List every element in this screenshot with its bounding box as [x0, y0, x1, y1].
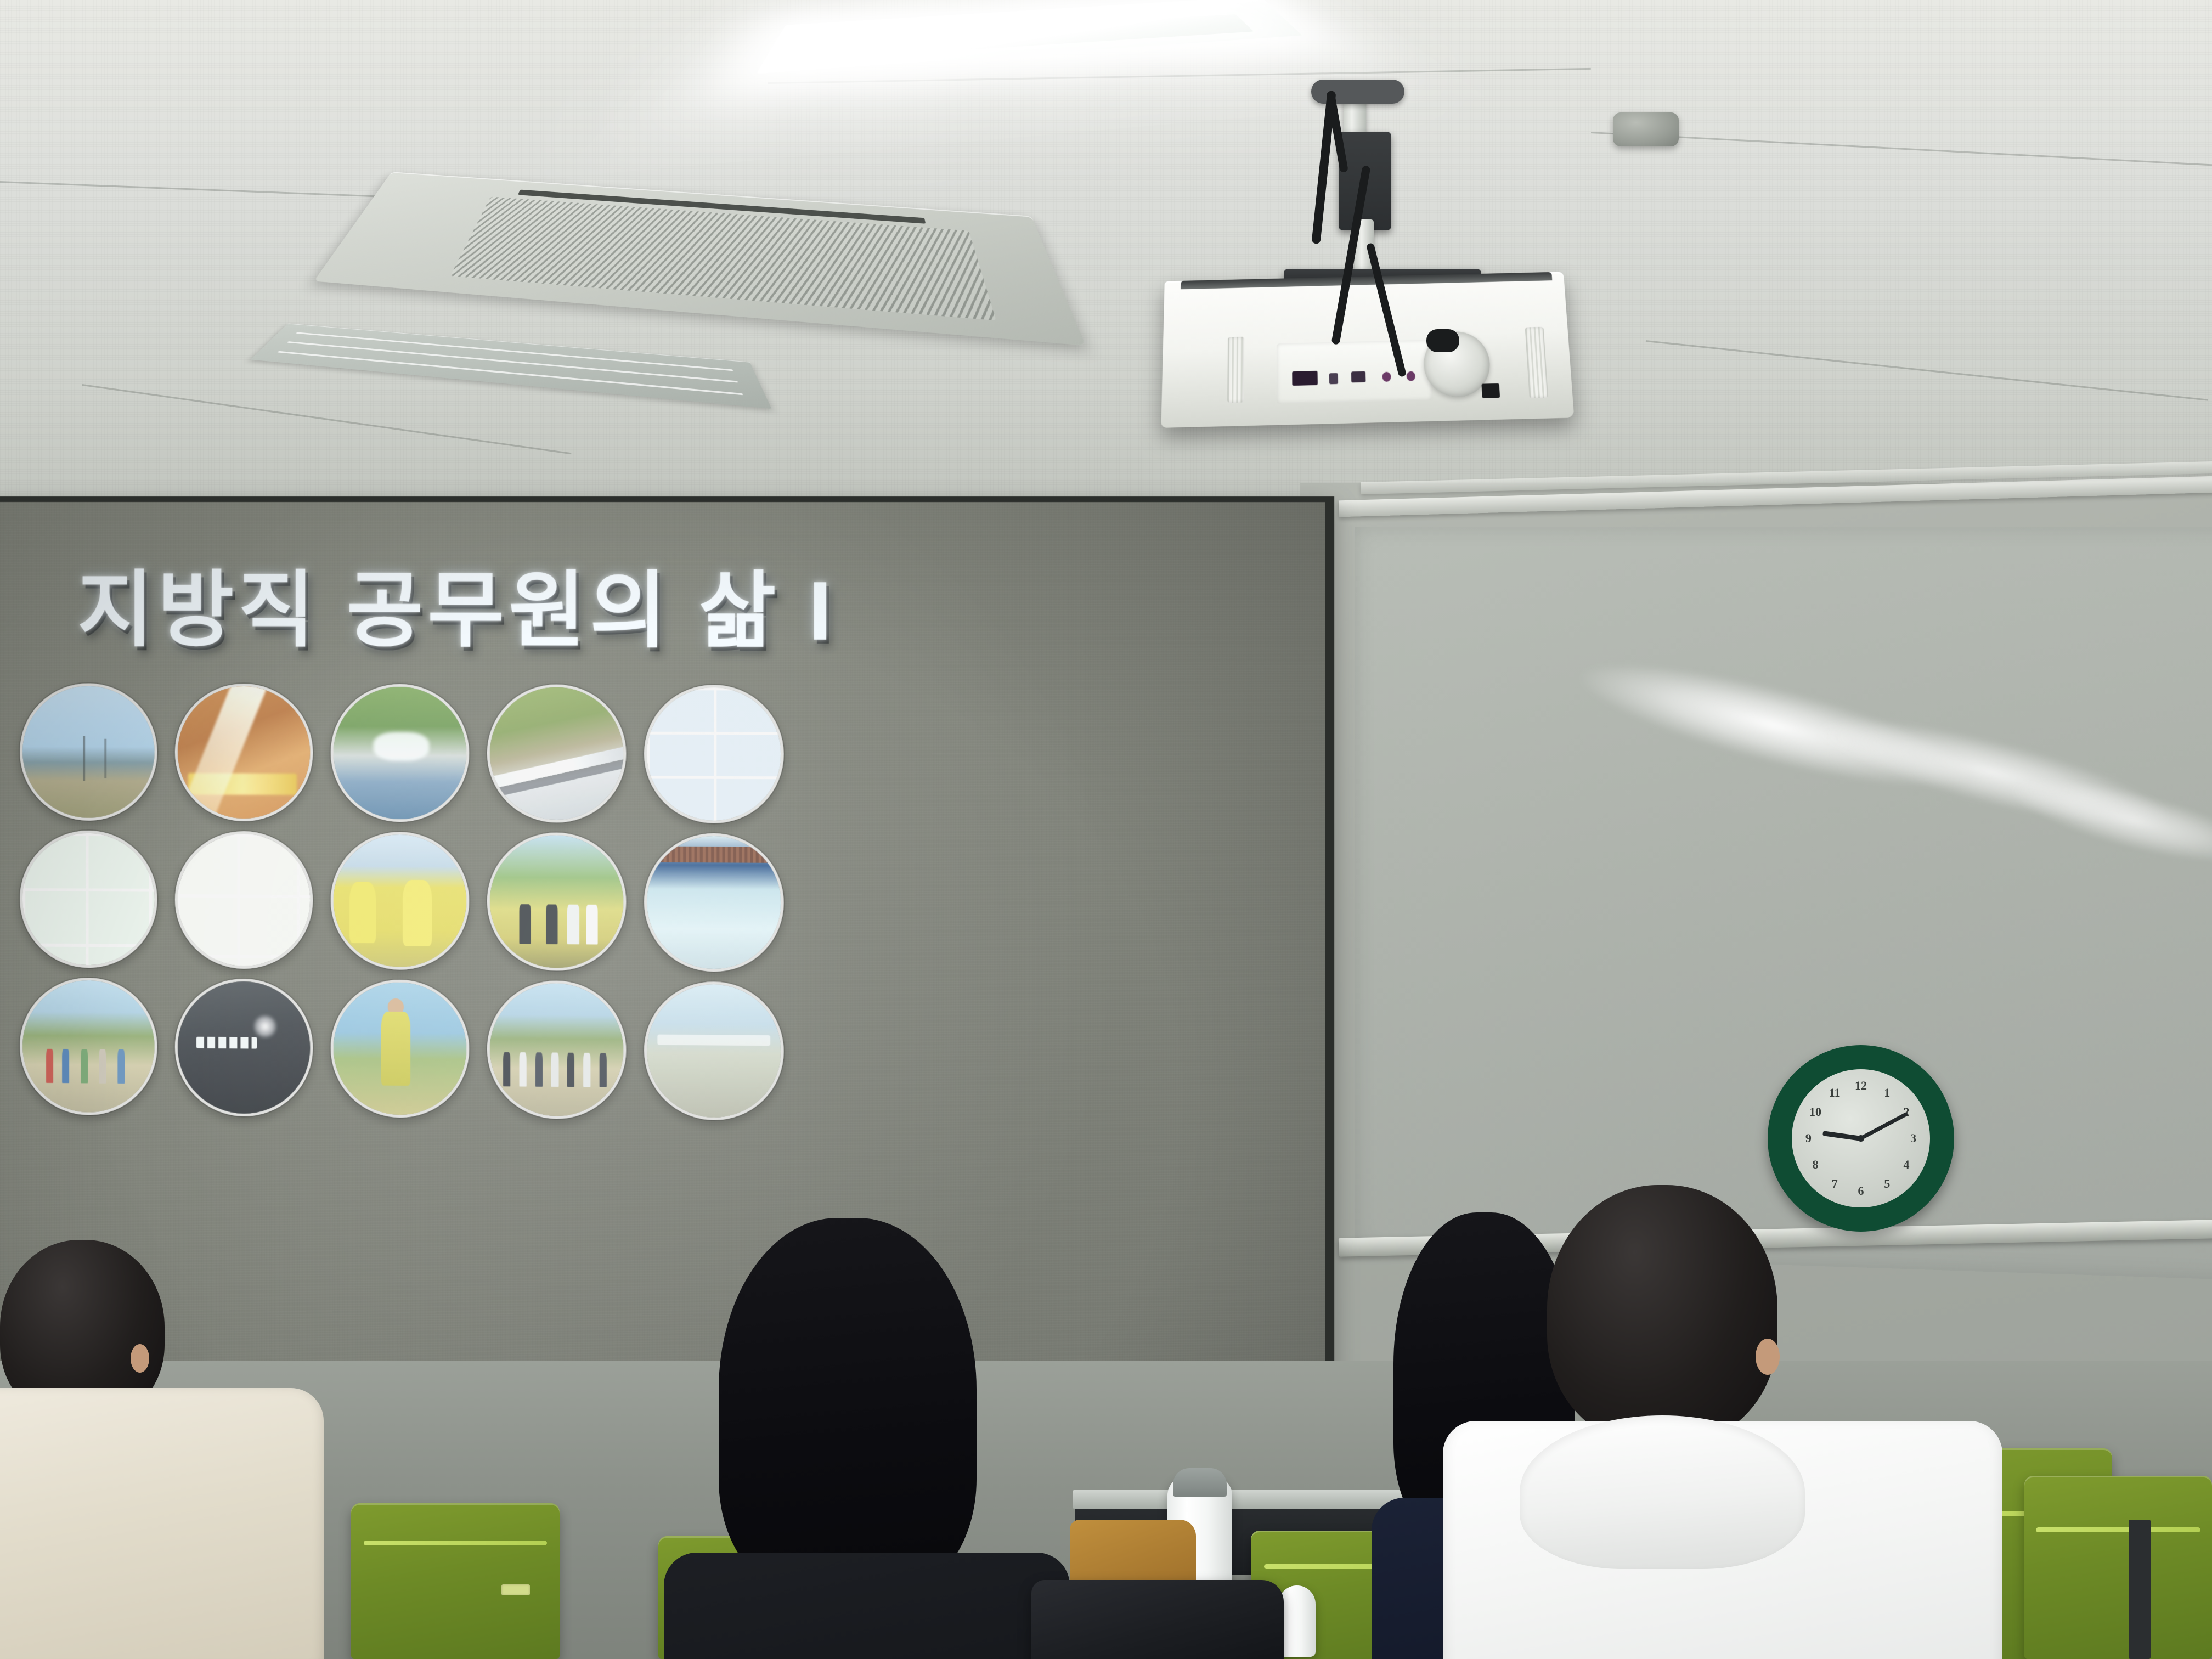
- clock-numeral: 8: [1812, 1158, 1818, 1172]
- backpack[interactable]: [1031, 1580, 1284, 1659]
- ear: [1756, 1339, 1780, 1375]
- hood: [1520, 1415, 1805, 1569]
- water-bottle-small[interactable]: [1278, 1585, 1316, 1657]
- clock-minute-hand: [1860, 1112, 1909, 1140]
- projector-body: [1161, 272, 1574, 428]
- projector-cable-connector: [1426, 329, 1459, 352]
- projector-port-panel: [1277, 340, 1432, 404]
- clock-numeral: 12: [1855, 1079, 1867, 1093]
- chair-leg: [2129, 1520, 2151, 1659]
- head: [1547, 1185, 1778, 1443]
- long-hair: [719, 1218, 977, 1591]
- projector-port-rca-2: [1407, 371, 1416, 381]
- chair[interactable]: [351, 1503, 560, 1659]
- clock-numeral: 9: [1805, 1131, 1812, 1145]
- clock-numeral: 4: [1904, 1158, 1910, 1172]
- projector-port-vga: [1292, 371, 1318, 386]
- projector-power-socket: [1482, 383, 1500, 398]
- clock-numeral: 1: [1884, 1086, 1890, 1100]
- clock-numeral: 11: [1829, 1086, 1841, 1100]
- audience-member-left: [0, 1229, 379, 1659]
- ear: [131, 1344, 149, 1373]
- projector-port-hdmi: [1351, 371, 1365, 382]
- audience-member-right-front: [1437, 1180, 2030, 1659]
- projector-port-audio: [1329, 373, 1338, 384]
- clock-hour-hand: [1822, 1131, 1861, 1141]
- projector-vent-left: [1227, 337, 1244, 403]
- torso: [0, 1388, 324, 1659]
- chair[interactable]: [2024, 1476, 2212, 1659]
- clock-numeral: 3: [1910, 1131, 1916, 1145]
- clock-center-pin: [1858, 1135, 1864, 1142]
- smoke-detector-icon: [1613, 112, 1679, 146]
- clock-numeral: 10: [1809, 1105, 1821, 1119]
- bottle-cap[interactable]: [1173, 1468, 1227, 1497]
- torso: [664, 1553, 1070, 1659]
- projector-vent-right: [1525, 326, 1548, 398]
- lecture-hall-scene: 12 1 2 3 4 5 6 7 8 9 10 11 지방직 공무원의 삶 I: [0, 0, 2212, 1659]
- projector-port-rca: [1382, 371, 1391, 381]
- projector-ceiling-plate: [1311, 80, 1404, 104]
